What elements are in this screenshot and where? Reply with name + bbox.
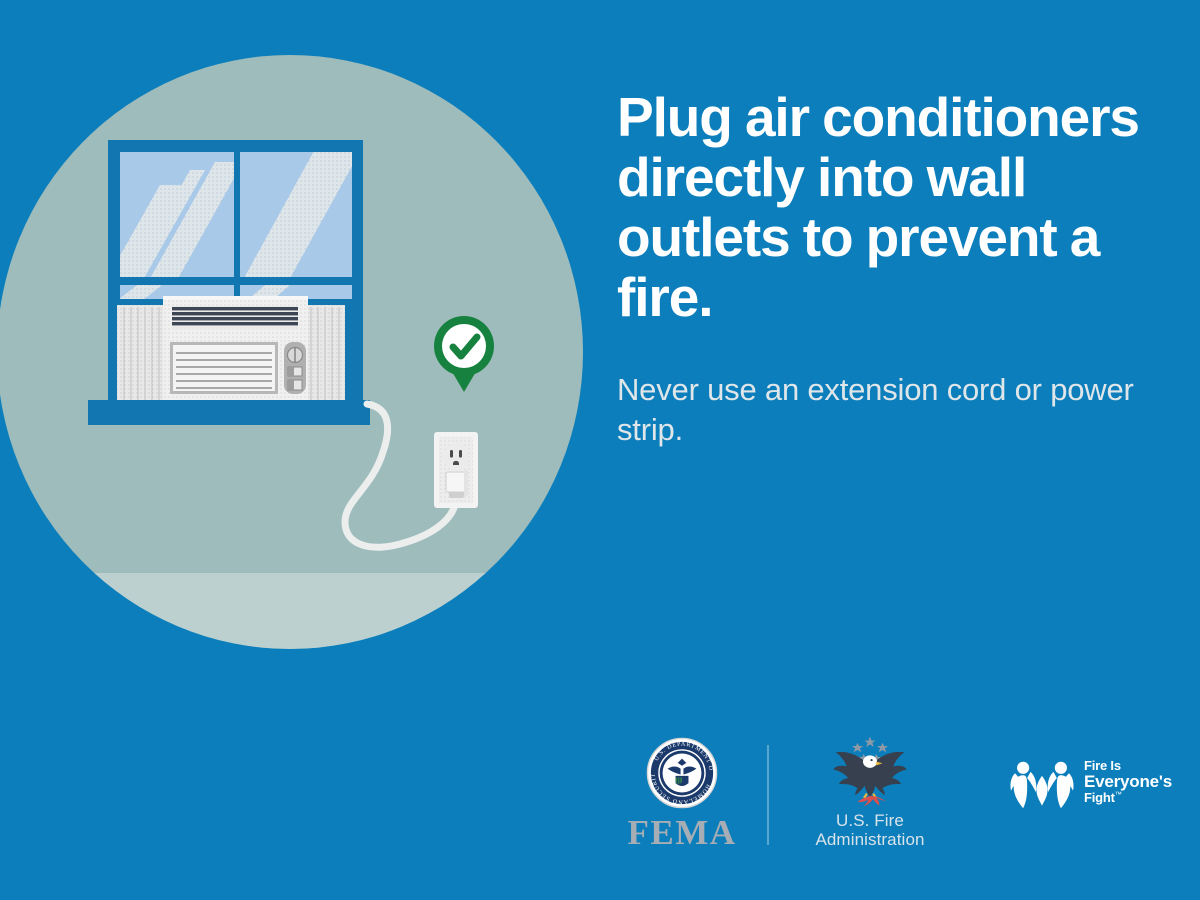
usfa-eagle-icon [831, 735, 909, 807]
poster-canvas: Plug air conditioners directly into wall… [0, 0, 1200, 900]
air-conditioner-unit [117, 296, 345, 401]
outlet-top-socket [443, 444, 469, 471]
usfa-logo: U.S. Fire Administration [790, 735, 950, 849]
page-title: Plug air conditioners directly into wall… [617, 88, 1162, 328]
fief-trademark: ™ [1115, 792, 1122, 799]
fire-is-everyones-fight-logo: Fire Is Everyone's Fight™ [1000, 753, 1180, 811]
fief-wordmark: Fire Is Everyone's Fight™ [1084, 759, 1172, 805]
window-sill [88, 400, 370, 425]
fema-logo: U.S. DEPARTMENT OF HOMELAND SECURITY [612, 737, 752, 850]
fief-line3: Fight [1084, 790, 1115, 805]
wall-outlet [434, 432, 478, 508]
dhs-seal-icon: U.S. DEPARTMENT OF HOMELAND SECURITY [646, 737, 718, 809]
subtitle: Never use an extension cord or power str… [617, 370, 1162, 451]
fief-line1: Fire Is [1084, 759, 1172, 773]
usfa-line1: U.S. Fire [815, 811, 924, 830]
usfa-wordmark: U.S. Fire Administration [815, 811, 924, 849]
usfa-line2: Administration [815, 830, 924, 849]
fema-wordmark: FEMA [627, 815, 736, 850]
logo-divider [767, 745, 769, 845]
inserted-plug [446, 470, 468, 498]
message-block: Plug air conditioners directly into wall… [617, 88, 1162, 450]
ac-control-panel [284, 342, 306, 394]
illustration-window-ac [0, 0, 600, 700]
fief-line3-row: Fight™ [1084, 791, 1172, 805]
fief-line2: Everyone's [1084, 773, 1172, 791]
fief-figures-icon [1008, 753, 1076, 811]
footer-logo-bar: U.S. DEPARTMENT OF HOMELAND SECURITY [600, 735, 1180, 870]
